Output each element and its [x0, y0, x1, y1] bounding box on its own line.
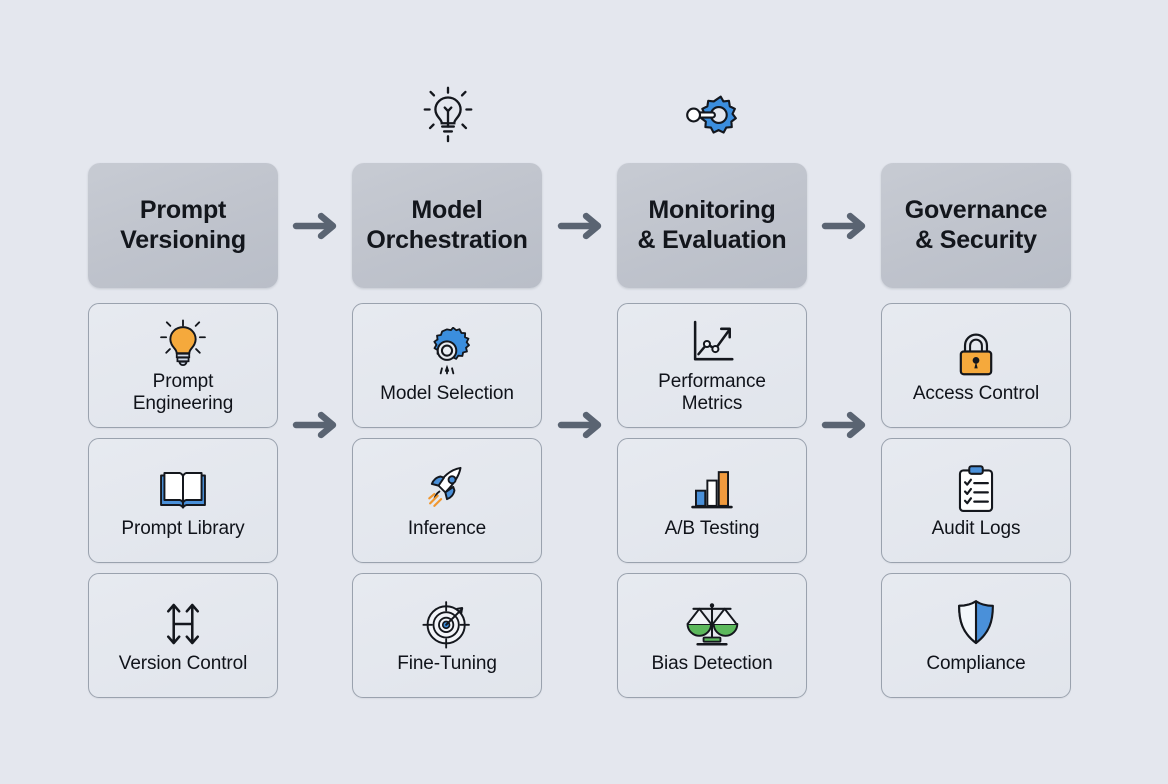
- flow-arrow-header-3: [819, 206, 875, 246]
- card-label: Bias Detection: [647, 653, 776, 675]
- stage-header-label: Monitoring & Evaluation: [631, 196, 792, 255]
- flow-arrow-row-3: [819, 405, 875, 445]
- open-book-icon: [156, 462, 210, 516]
- card-label: Compliance: [922, 653, 1029, 675]
- card-performance-metrics[interactable]: Performance Metrics: [617, 303, 807, 428]
- card-label: Model Selection: [376, 383, 518, 405]
- padlock-icon: [949, 327, 1003, 381]
- card-audit-logs[interactable]: Audit Logs: [881, 438, 1071, 563]
- line-chart-up-icon: [685, 317, 739, 371]
- lightbulb-icon: [156, 317, 210, 371]
- gear-settings-icon: [681, 84, 743, 146]
- shield-icon: [949, 597, 1003, 651]
- card-label: A/B Testing: [661, 518, 764, 540]
- card-fine-tuning[interactable]: Fine-Tuning: [352, 573, 542, 698]
- branch-arrows-icon: [156, 597, 210, 651]
- clipboard-checklist-icon: [949, 462, 1003, 516]
- lightbulb-outline-icon: [417, 82, 479, 144]
- card-access-control[interactable]: Access Control: [881, 303, 1071, 428]
- stage-header-monitoring-evaluation[interactable]: Monitoring & Evaluation: [617, 163, 807, 288]
- flow-arrow-row-1: [290, 405, 346, 445]
- gear-icon: [420, 327, 474, 381]
- card-label: Inference: [404, 518, 490, 540]
- card-model-selection[interactable]: Model Selection: [352, 303, 542, 428]
- stage-header-model-orchestration[interactable]: Model Orchestration: [352, 163, 542, 288]
- card-label: Access Control: [909, 383, 1043, 405]
- card-inference[interactable]: Inference: [352, 438, 542, 563]
- stage-header-prompt-versioning[interactable]: Prompt Versioning: [88, 163, 278, 288]
- flow-arrow-row-2: [555, 405, 611, 445]
- card-label: Prompt Engineering: [129, 371, 237, 415]
- flow-arrow-header-1: [290, 206, 346, 246]
- card-compliance[interactable]: Compliance: [881, 573, 1071, 698]
- card-bias-detection[interactable]: Bias Detection: [617, 573, 807, 698]
- card-label: Audit Logs: [928, 518, 1025, 540]
- card-label: Version Control: [115, 653, 251, 675]
- rocket-icon: [420, 462, 474, 516]
- card-version-control[interactable]: Version Control: [88, 573, 278, 698]
- stage-header-label: Governance & Security: [899, 196, 1054, 255]
- card-prompt-engineering[interactable]: Prompt Engineering: [88, 303, 278, 428]
- target-icon: [420, 597, 474, 651]
- card-label: Fine-Tuning: [393, 653, 501, 675]
- flow-arrow-header-2: [555, 206, 611, 246]
- balance-scales-icon: [685, 597, 739, 651]
- card-label: Prompt Library: [117, 518, 248, 540]
- card-prompt-library[interactable]: Prompt Library: [88, 438, 278, 563]
- diagram-canvas: Prompt Versioning Model Orchestration Mo…: [0, 0, 1168, 784]
- stage-header-label: Prompt Versioning: [114, 196, 252, 255]
- card-label: Performance Metrics: [654, 371, 770, 415]
- bar-chart-icon: [685, 462, 739, 516]
- stage-header-governance-security[interactable]: Governance & Security: [881, 163, 1071, 288]
- stage-header-label: Model Orchestration: [360, 196, 533, 255]
- card-ab-testing[interactable]: A/B Testing: [617, 438, 807, 563]
